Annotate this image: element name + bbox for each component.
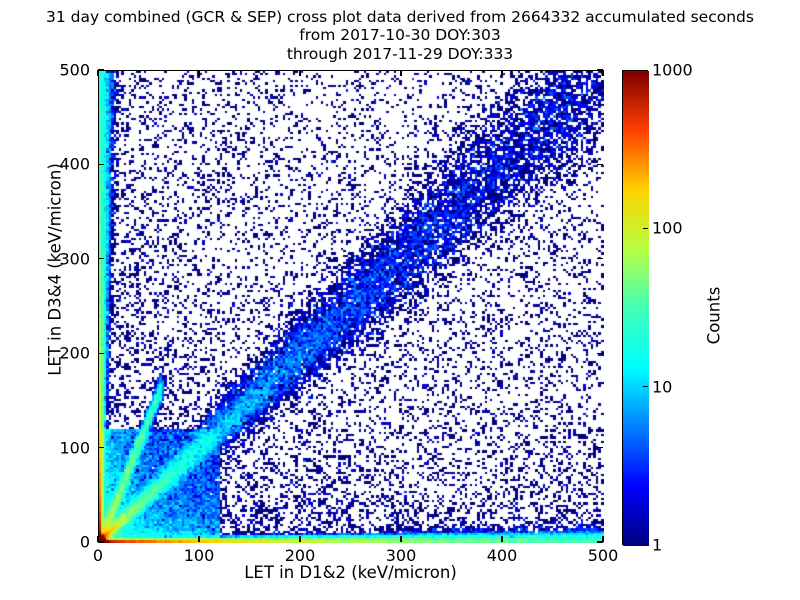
y-tick-0 (98, 541, 104, 542)
figure-canvas: 31 day combined (GCR & SEP) cross plot d… (0, 0, 800, 600)
scatter-heatmap (99, 71, 604, 543)
colorbar-label: Counts (705, 216, 724, 416)
x-tick-400 (501, 536, 502, 542)
colorbar-gradient (623, 71, 649, 546)
y-tick-right-300 (597, 258, 603, 259)
y-tick-400 (98, 164, 104, 165)
plot-title: 31 day combined (GCR & SEP) cross plot d… (0, 8, 800, 63)
colorbar (622, 70, 648, 545)
y-tick-200 (98, 353, 104, 354)
x-axis-label: LET in D1&2 (keV/micron) (98, 563, 603, 582)
x-tick-top-100 (198, 70, 199, 76)
colorbar-ticklabel-1000: 1000 (652, 61, 693, 80)
y-ticklabel-0: 0 (24, 533, 90, 552)
x-tick-top-0 (97, 70, 98, 76)
colorbar-ticklabel-1: 1 (652, 536, 662, 555)
colorbar-ticklabel-100: 100 (652, 219, 683, 238)
title-line-2: from 2017-10-30 DOY:303 (0, 26, 800, 44)
plot-axes (98, 70, 603, 542)
y-tick-right-200 (597, 353, 603, 354)
x-tick-top-500 (602, 70, 603, 76)
y-tick-right-400 (597, 164, 603, 165)
x-tick-top-400 (501, 70, 502, 76)
x-tick-200 (299, 536, 300, 542)
colorbar-ticklabel-10: 10 (652, 377, 672, 396)
y-tick-right-500 (597, 69, 603, 70)
x-tick-300 (400, 536, 401, 542)
y-tick-500 (98, 69, 104, 70)
y-tick-right-0 (597, 541, 603, 542)
colorbar-tick-100 (643, 228, 648, 229)
y-tick-300 (98, 258, 104, 259)
x-tick-100 (198, 536, 199, 542)
title-line-1: 31 day combined (GCR & SEP) cross plot d… (0, 8, 800, 26)
y-tick-right-100 (597, 447, 603, 448)
x-tick-top-300 (400, 70, 401, 76)
y-tick-100 (98, 447, 104, 448)
colorbar-tick-10 (643, 386, 648, 387)
y-axis-label: LET in D3&4 (keV/micron) (46, 60, 65, 480)
x-tick-top-200 (299, 70, 300, 76)
